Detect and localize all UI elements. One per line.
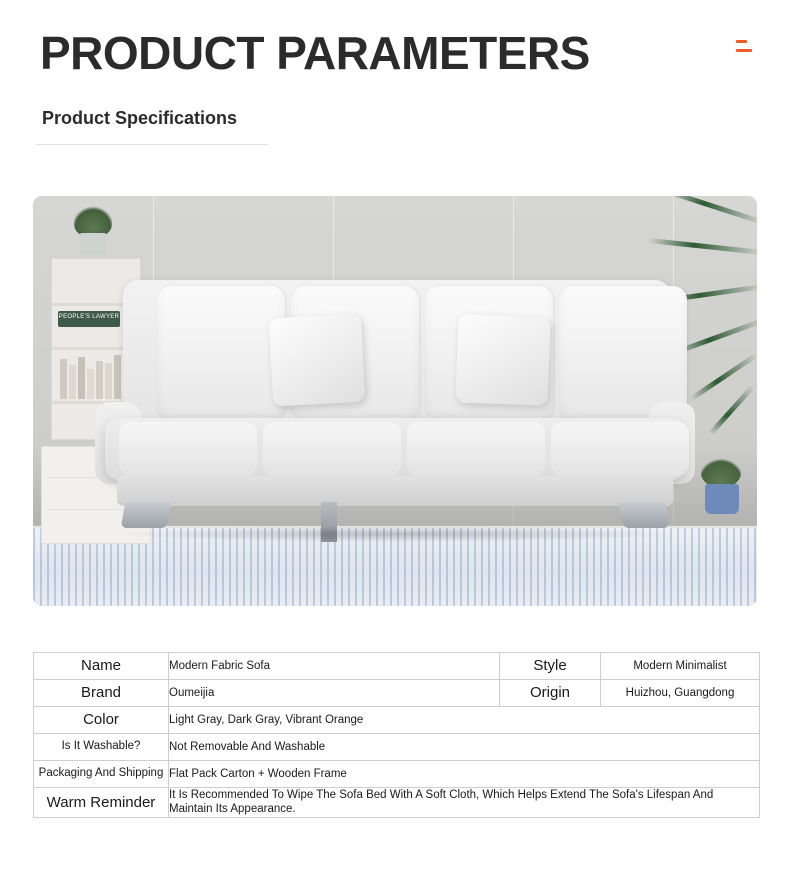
throw-pillow xyxy=(269,314,365,407)
back-cushion xyxy=(157,286,285,422)
spec-value-brand: Oumeijia xyxy=(169,680,500,707)
spec-label-style: Style xyxy=(500,653,601,680)
spec-label-reminder: Warm Reminder xyxy=(34,788,169,818)
throw-pillow xyxy=(455,314,550,405)
book xyxy=(60,359,67,399)
page-header: PRODUCT PARAMETERS Product Specification… xyxy=(0,0,790,160)
spec-label-origin: Origin xyxy=(500,680,601,707)
table-row: Packaging And Shipping Flat Pack Carton … xyxy=(34,761,760,788)
spec-value-reminder: It Is Recommended To Wipe The Sofa Bed W… xyxy=(169,788,760,818)
section-subtitle: Product Specifications xyxy=(42,108,237,129)
spec-value-washable: Not Removable And Washable xyxy=(169,734,760,761)
spec-value-name: Modern Fabric Sofa xyxy=(169,653,500,680)
book xyxy=(69,365,76,399)
sofa-seat xyxy=(105,418,685,480)
sofa-bed xyxy=(95,280,695,560)
fern-frond xyxy=(647,238,757,255)
spec-label-washable: Is It Washable? xyxy=(34,734,169,761)
seat-cushion xyxy=(119,422,257,476)
hamburger-menu-icon[interactable] xyxy=(736,40,752,52)
sofa-leg-right xyxy=(619,502,670,528)
seat-cushion xyxy=(263,422,401,476)
spec-label-brand: Brand xyxy=(34,680,169,707)
spec-value-style: Modern Minimalist xyxy=(601,653,760,680)
menu-bar-bottom xyxy=(736,49,752,52)
spec-label-color: Color xyxy=(34,707,169,734)
book xyxy=(78,357,85,399)
spec-value-origin: Huizhou, Guangdong xyxy=(601,680,760,707)
product-parameters-page: PRODUCT PARAMETERS Product Specification… xyxy=(0,0,790,874)
sofa-base xyxy=(117,476,673,506)
small-plant-pot xyxy=(705,484,739,514)
table-row: Color Light Gray, Dark Gray, Vibrant Ora… xyxy=(34,707,760,734)
product-hero-image: PEOPLE'S LAWYER xyxy=(33,196,757,606)
book xyxy=(87,369,94,399)
living-room-scene: PEOPLE'S LAWYER xyxy=(33,196,757,606)
sofa-leg-left xyxy=(121,502,172,528)
specifications-table: Name Modern Fabric Sofa Style Modern Min… xyxy=(33,652,760,818)
table-row: Warm Reminder It Is Recommended To Wipe … xyxy=(34,788,760,818)
spec-label-packaging: Packaging And Shipping xyxy=(34,761,169,788)
spec-label-name: Name xyxy=(34,653,169,680)
seat-cushion xyxy=(551,422,689,476)
subtitle-divider xyxy=(36,144,268,145)
page-title: PRODUCT PARAMETERS xyxy=(40,26,590,80)
spec-value-packaging: Flat Pack Carton + Wooden Frame xyxy=(169,761,760,788)
sofa-backrest xyxy=(123,280,671,428)
table-row: Brand Oumeijia Origin Huizhou, Guangdong xyxy=(34,680,760,707)
seat-cushion xyxy=(407,422,545,476)
table-row: Name Modern Fabric Sofa Style Modern Min… xyxy=(34,653,760,680)
table-row: Is It Washable? Not Removable And Washab… xyxy=(34,734,760,761)
spec-value-color: Light Gray, Dark Gray, Vibrant Orange xyxy=(169,707,760,734)
sofa-shadow xyxy=(115,526,681,542)
menu-bar-top xyxy=(736,40,747,43)
plant-pot xyxy=(80,233,106,255)
fern-frond xyxy=(708,385,755,436)
